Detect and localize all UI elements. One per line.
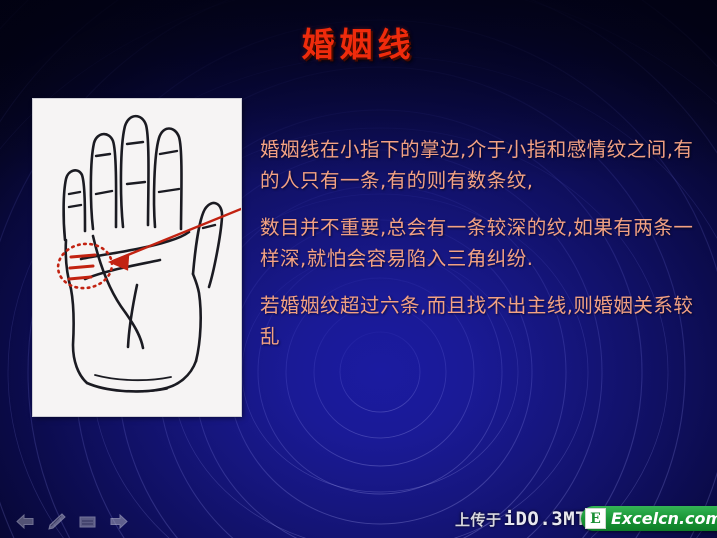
body-paragraph-2: 数目并不重要,总会有一条较深的纹,如果有两条一样深,就怕会容易陷入三角纠纷. [260,212,712,274]
excelcn-badge[interactable]: E Excelcn.com [581,506,717,531]
pen-tool-button[interactable] [47,513,66,530]
next-slide-button[interactable] [109,513,128,530]
slide-menu-button[interactable] [78,513,97,530]
slideshow-controls [16,513,128,530]
slide-body: 婚姻线在小指下的掌边,介于小指和感情纹之间,有的人只有一条,有的则有数条纹, 数… [260,134,712,352]
slide-title: 婚姻线 [0,18,717,66]
previous-slide-button[interactable] [16,513,35,530]
excel-logo-icon: E [585,508,606,529]
excelcn-badge-text: Excelcn.com [611,509,717,528]
watermark-prefix: 上传于 [455,509,502,530]
palm-diagram-image [33,99,241,416]
watermark: 上传于 iDO.3MT.COM.CN E Excelcn.com [455,504,671,534]
body-paragraph-3: 若婚姻纹超过六条,而且找不出主线,则婚姻关系较乱 [260,290,712,352]
body-paragraph-1: 婚姻线在小指下的掌边,介于小指和感情纹之间,有的人只有一条,有的则有数条纹, [260,134,712,196]
presentation-slide: 婚姻线 [0,0,717,538]
